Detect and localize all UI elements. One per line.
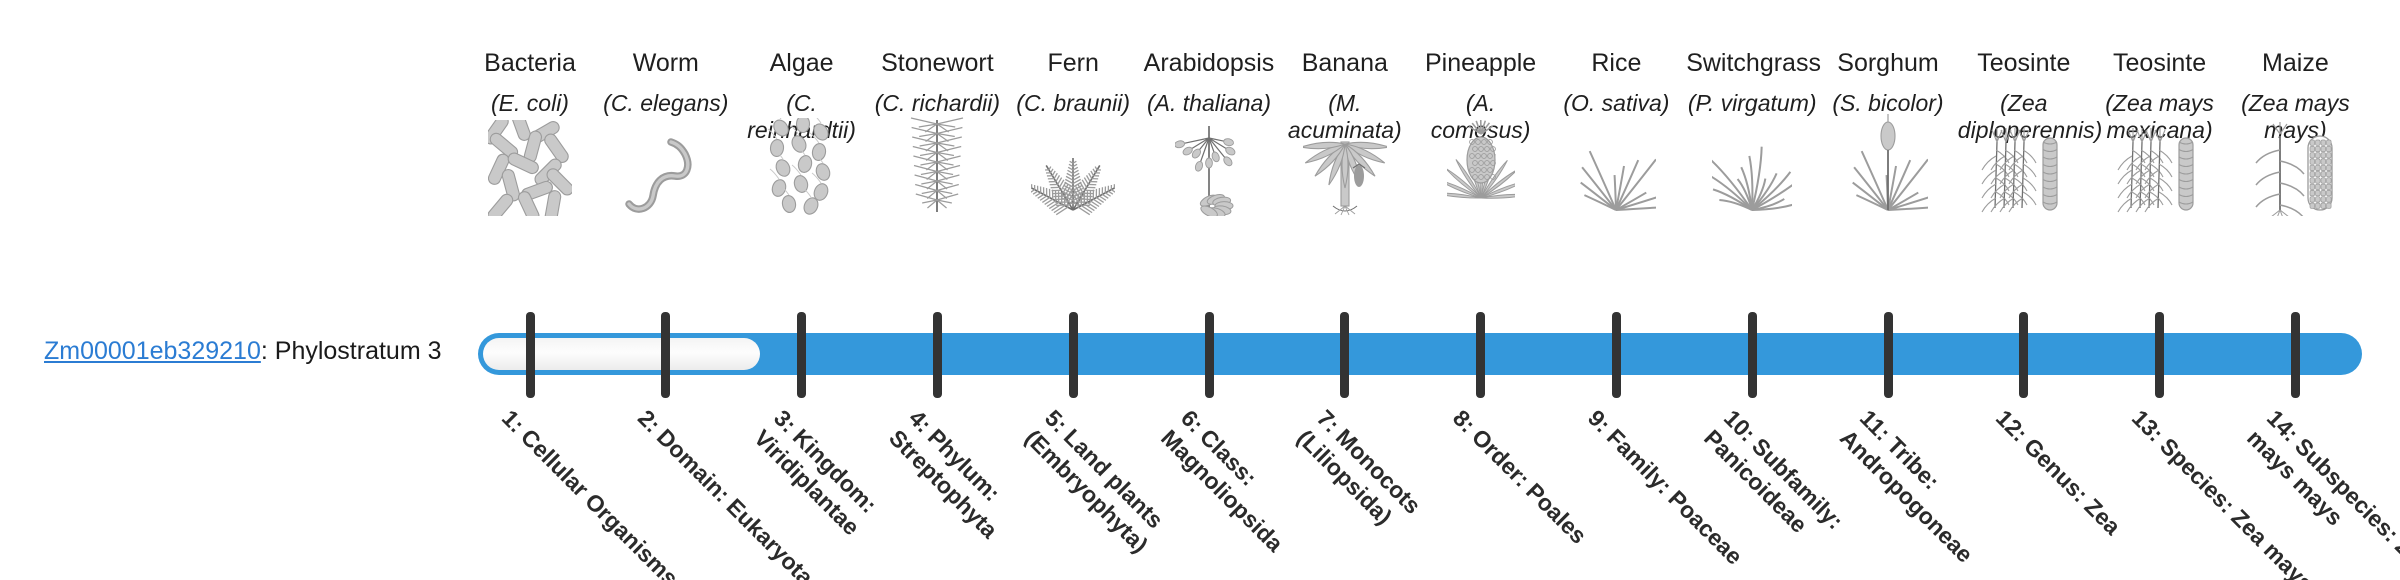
teosinte-mexicana-ear-icon xyxy=(2094,116,2226,216)
species-common-name: Teosinte xyxy=(1958,48,2090,78)
teosinte-plant-ear-icon xyxy=(1958,116,2090,216)
species-column: Sorghum(S. bicolor) xyxy=(1822,48,1954,117)
species-common-name: Worm xyxy=(600,48,732,78)
species-common-name: Maize xyxy=(2229,48,2361,78)
phylostratum-tick[interactable] xyxy=(1612,312,1621,398)
species-column: Switchgrass(P. virgatum) xyxy=(1686,48,1818,117)
phylostratum-tick[interactable] xyxy=(661,312,670,398)
species-scientific-name: (O. sativa) xyxy=(1550,90,1682,117)
species-common-name: Stonewort xyxy=(871,48,1003,78)
species-common-name: Fern xyxy=(1007,48,1139,78)
species-common-name: Bacteria xyxy=(464,48,596,78)
species-scientific-name: (A. thaliana) xyxy=(1143,90,1275,117)
species-column: Worm(C. elegans) xyxy=(600,48,732,117)
phylostratum-tick[interactable] xyxy=(933,312,942,398)
phylostratum-tick[interactable] xyxy=(1205,312,1214,398)
phylostratum-value: Phylostratum 3 xyxy=(275,337,442,365)
species-scientific-name: (P. virgatum) xyxy=(1686,90,1818,117)
species-column: Arabidopsis(A. thaliana) xyxy=(1143,48,1275,117)
arabidopsis-plant-icon xyxy=(1143,116,1275,216)
rank-number: 13: xyxy=(2127,405,2169,447)
rank-name: Subfamily: Panicoideae xyxy=(1699,425,1848,538)
species-column: Bacteria(E. coli) xyxy=(464,48,596,117)
bacteria-rods-icon xyxy=(464,116,596,216)
phylostratum-tick[interactable] xyxy=(1476,312,1485,398)
switchgrass-icon xyxy=(1686,116,1818,216)
species-scientific-name: (C. braunii) xyxy=(1007,90,1139,117)
sorghum-plant-icon xyxy=(1822,116,1954,216)
gene-id-link[interactable]: Zm00001eb329210 xyxy=(44,337,261,365)
phylostratum-tick[interactable] xyxy=(1340,312,1349,398)
phylostratum-tick[interactable] xyxy=(2291,312,2300,398)
rank-name: Monocots (Liliopsida) xyxy=(1292,424,1426,530)
gene-label-separator: : xyxy=(261,337,275,365)
phylostratum-tick[interactable] xyxy=(526,312,535,398)
species-scientific-name: (S. bicolor) xyxy=(1822,90,1954,117)
phylostratum-tick[interactable] xyxy=(1884,312,1893,398)
species-common-name: Banana xyxy=(1279,48,1411,78)
stonewort-plant-icon xyxy=(871,116,1003,216)
species-common-name: Rice xyxy=(1550,48,1682,78)
maize-plant-cob-icon xyxy=(2229,116,2361,216)
species-column: Fern(C. braunii) xyxy=(1007,48,1139,117)
progress-track xyxy=(478,333,2362,375)
species-common-name: Algae xyxy=(736,48,868,78)
progress-unfilled-region xyxy=(483,338,760,370)
phylostratum-tick[interactable] xyxy=(1069,312,1078,398)
phylostratum-tick[interactable] xyxy=(1748,312,1757,398)
nematode-worm-icon xyxy=(600,116,732,216)
phylostratum-tick[interactable] xyxy=(2019,312,2028,398)
species-column: Rice(O. sativa) xyxy=(1550,48,1682,117)
species-common-name: Arabidopsis xyxy=(1143,48,1275,78)
species-scientific-name: (E. coli) xyxy=(464,90,596,117)
species-common-name: Switchgrass xyxy=(1686,48,1818,78)
phylostratum-tick[interactable] xyxy=(2155,312,2164,398)
phylostratum-progress-bar[interactable] xyxy=(478,333,2362,375)
rank-name: Genus: Zea xyxy=(2019,433,2126,540)
species-column: Stonewort(C. richardii) xyxy=(871,48,1003,117)
fern-frond-icon xyxy=(1007,116,1139,216)
green-algae-cells-icon xyxy=(736,116,868,216)
gene-phylostratum-label: Zm00001eb329210: Phylostratum 3 xyxy=(44,336,442,366)
banana-tree-icon xyxy=(1279,116,1411,216)
phylostratum-figure: Zm00001eb329210: Phylostratum 3 Bacteria… xyxy=(0,0,2400,580)
rank-name: Order: Poales xyxy=(1466,424,1591,549)
phylostratum-tick[interactable] xyxy=(797,312,806,398)
species-scientific-name: (C. elegans) xyxy=(600,90,732,117)
rank-number: 12: xyxy=(1991,405,2033,447)
rice-grass-icon xyxy=(1550,116,1682,216)
pineapple-plant-icon xyxy=(1415,116,1547,216)
species-common-name: Sorghum xyxy=(1822,48,1954,78)
species-common-name: Teosinte xyxy=(2094,48,2226,78)
species-common-name: Pineapple xyxy=(1415,48,1547,78)
